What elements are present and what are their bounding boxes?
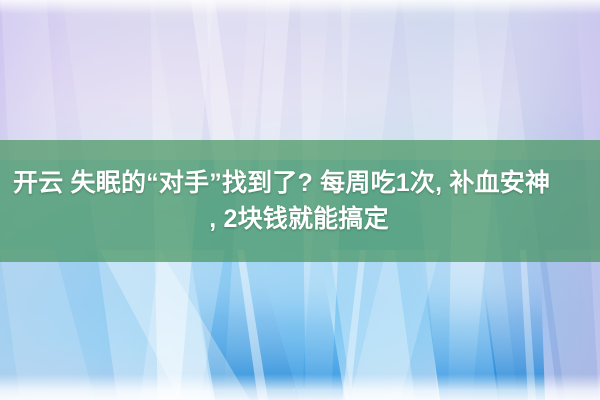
headline-overlay-band: 开云 失眠的“对手”找到了? 每周吃1次, 补血安神 , 2块钱就能搞定 (0, 140, 600, 262)
article-banner-image: 开云 失眠的“对手”找到了? 每周吃1次, 补血安神 , 2块钱就能搞定 · · (0, 0, 600, 400)
headline-line-2: , 2块钱就能搞定 (0, 201, 600, 237)
watermark-text: · · (0, 384, 600, 394)
bottom-edge-fade (0, 374, 600, 400)
headline-line-1: 开云 失眠的“对手”找到了? 每周吃1次, 补血安神 (0, 165, 600, 201)
top-edge-fade (0, 0, 600, 14)
